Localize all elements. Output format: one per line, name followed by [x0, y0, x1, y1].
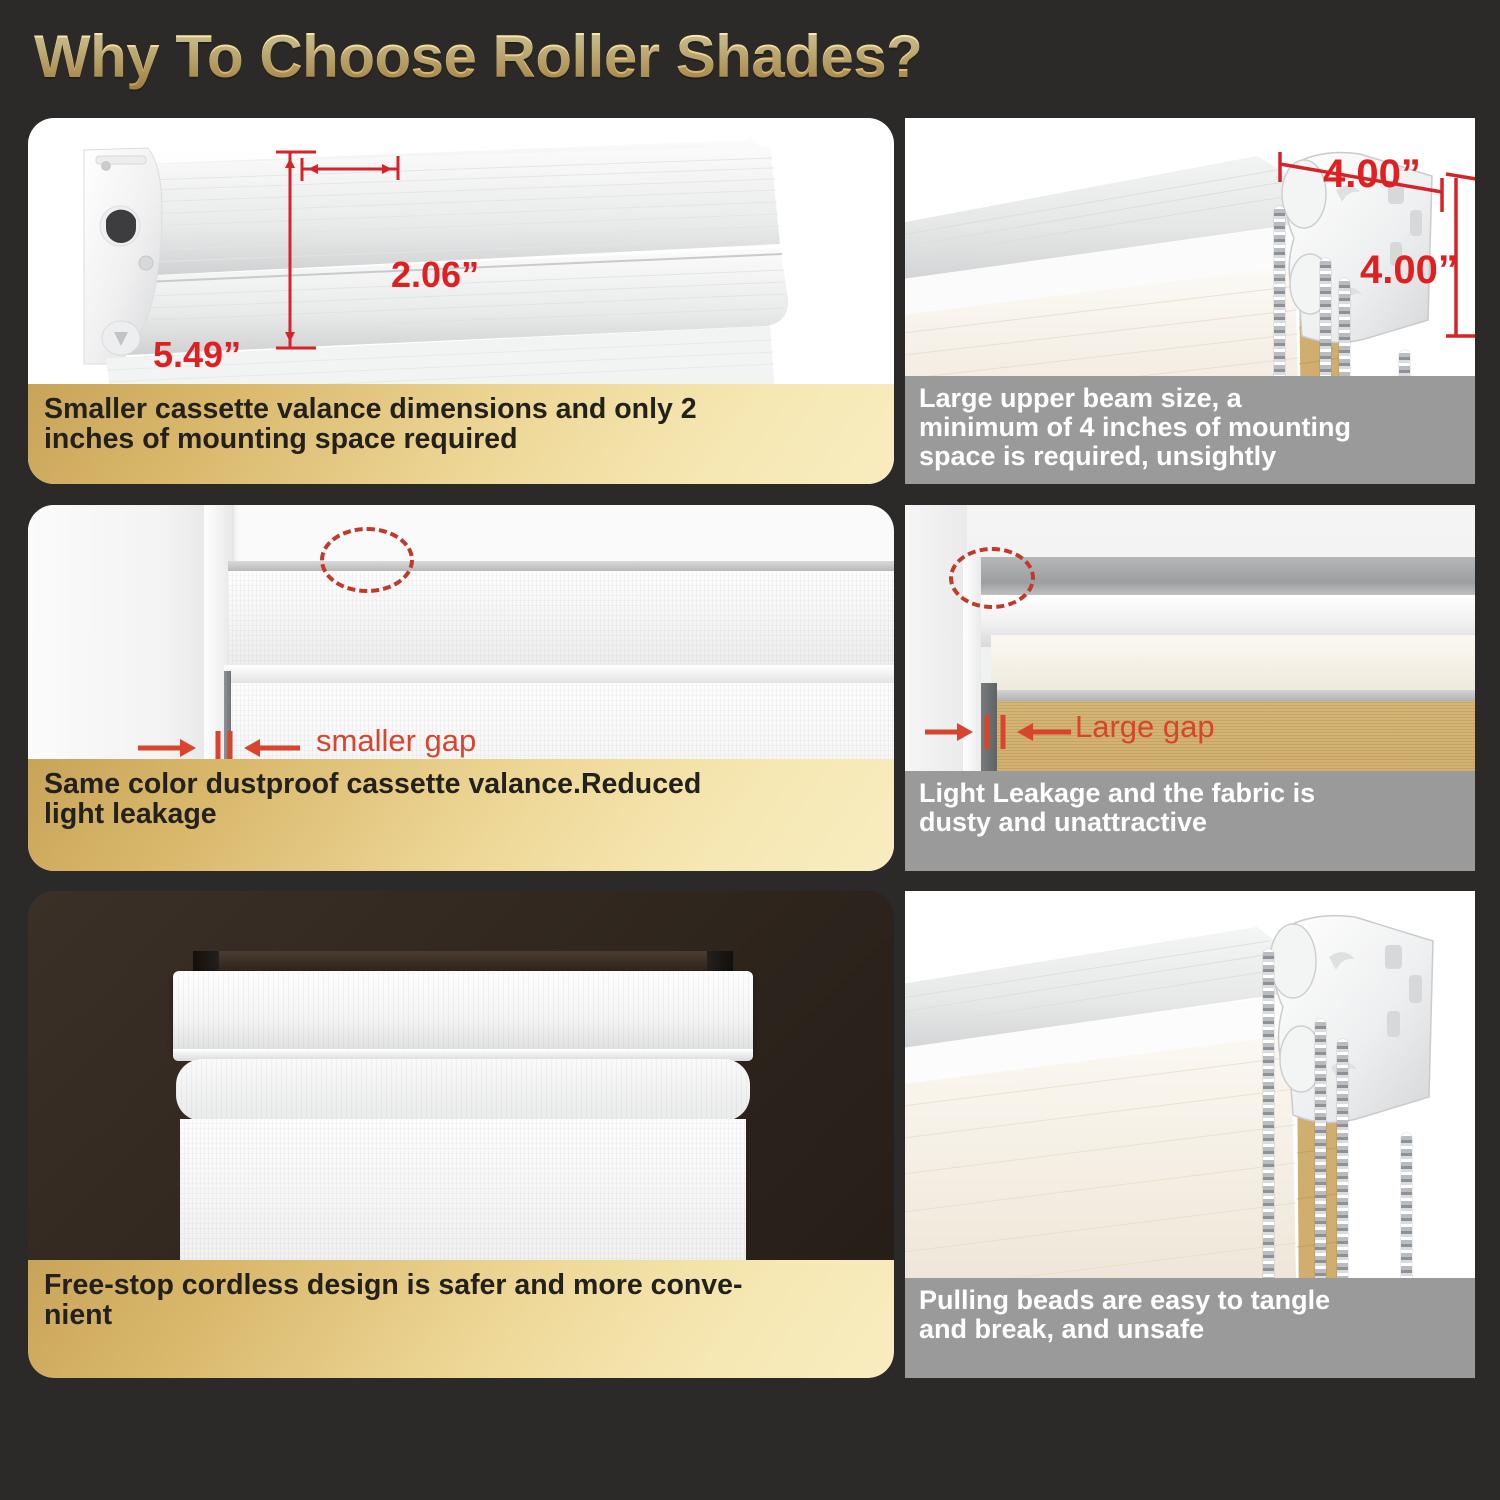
- caption-line: dusty and unattractive: [919, 808, 1461, 837]
- panel-cordless-design: Free-stop cordless design is safer and m…: [28, 891, 894, 1378]
- panel-dustproof-cassette: smaller gap Same color dustproof cassett…: [28, 505, 894, 871]
- caption-cordless-design: Free-stop cordless design is safer and m…: [28, 1260, 894, 1378]
- gap-arrows: [925, 709, 1075, 755]
- panel-light-leakage: Large gap Light Leakage and the fabric i…: [905, 505, 1475, 871]
- caption-line: inches of mounting space required: [44, 424, 878, 454]
- caption-light-leakage: Light Leakage and the fabric is dusty an…: [905, 771, 1475, 871]
- caption-line: nient: [44, 1300, 878, 1330]
- dimension-label-height: 5.49”: [153, 334, 241, 376]
- gap-label-smaller: smaller gap: [316, 723, 476, 759]
- panel-pulling-beads: Pulling beads are easy to tangle and bre…: [905, 891, 1475, 1378]
- caption-dustproof-cassette: Same color dustproof cassette valance.Re…: [28, 759, 894, 871]
- caption-line: Large upper beam size, a: [919, 384, 1461, 413]
- caption-large-upper-beam: Large upper beam size, a minimum of 4 in…: [905, 376, 1475, 484]
- panel-large-upper-beam: 4.00” 4.00” Large upper beam size, a min…: [905, 118, 1475, 484]
- caption-line: Free-stop cordless design is safer and m…: [44, 1270, 878, 1300]
- panel-smaller-cassette: 2.06” 5.49” Smaller cassette valance dim…: [28, 118, 894, 484]
- valance-bottom-lip: [224, 665, 894, 683]
- roller-bracket-illustration: [1247, 901, 1475, 1181]
- caption-line: Pulling beads are easy to tangle: [919, 1286, 1461, 1315]
- highlight-circle: [949, 547, 1035, 609]
- caption-pulling-beads: Pulling beads are easy to tangle and bre…: [905, 1278, 1475, 1378]
- caption-line: Light Leakage and the fabric is: [919, 779, 1461, 808]
- caption-line: space is required, unsightly: [919, 442, 1461, 471]
- caption-line: Smaller cassette valance dimensions and …: [44, 394, 878, 424]
- cassette-valance-photo: [173, 971, 753, 1053]
- caption-line: Same color dustproof cassette valance.Re…: [44, 769, 878, 799]
- caption-line: and break, and unsafe: [919, 1315, 1461, 1344]
- dimension-label-beam-height: 4.00”: [1360, 248, 1458, 293]
- upper-beam: [967, 557, 1475, 599]
- caption-smaller-cassette: Smaller cassette valance dimensions and …: [28, 384, 894, 484]
- dimension-label-width: 2.06”: [391, 254, 479, 296]
- caption-line: light leakage: [44, 799, 878, 829]
- dimension-label-beam-width: 4.00”: [1323, 152, 1421, 197]
- highlight-circle: [320, 527, 414, 593]
- cassette-valance-band: [228, 571, 894, 671]
- cream-band: [991, 635, 1475, 693]
- shade-roll: [176, 1059, 750, 1121]
- page-title: Why To Choose Roller Shades?: [34, 22, 922, 91]
- caption-line: minimum of 4 inches of mounting: [919, 413, 1461, 442]
- gap-label-large: Large gap: [1075, 709, 1215, 745]
- infographic-page: Why To Choose Roller Shades?: [0, 0, 1500, 1500]
